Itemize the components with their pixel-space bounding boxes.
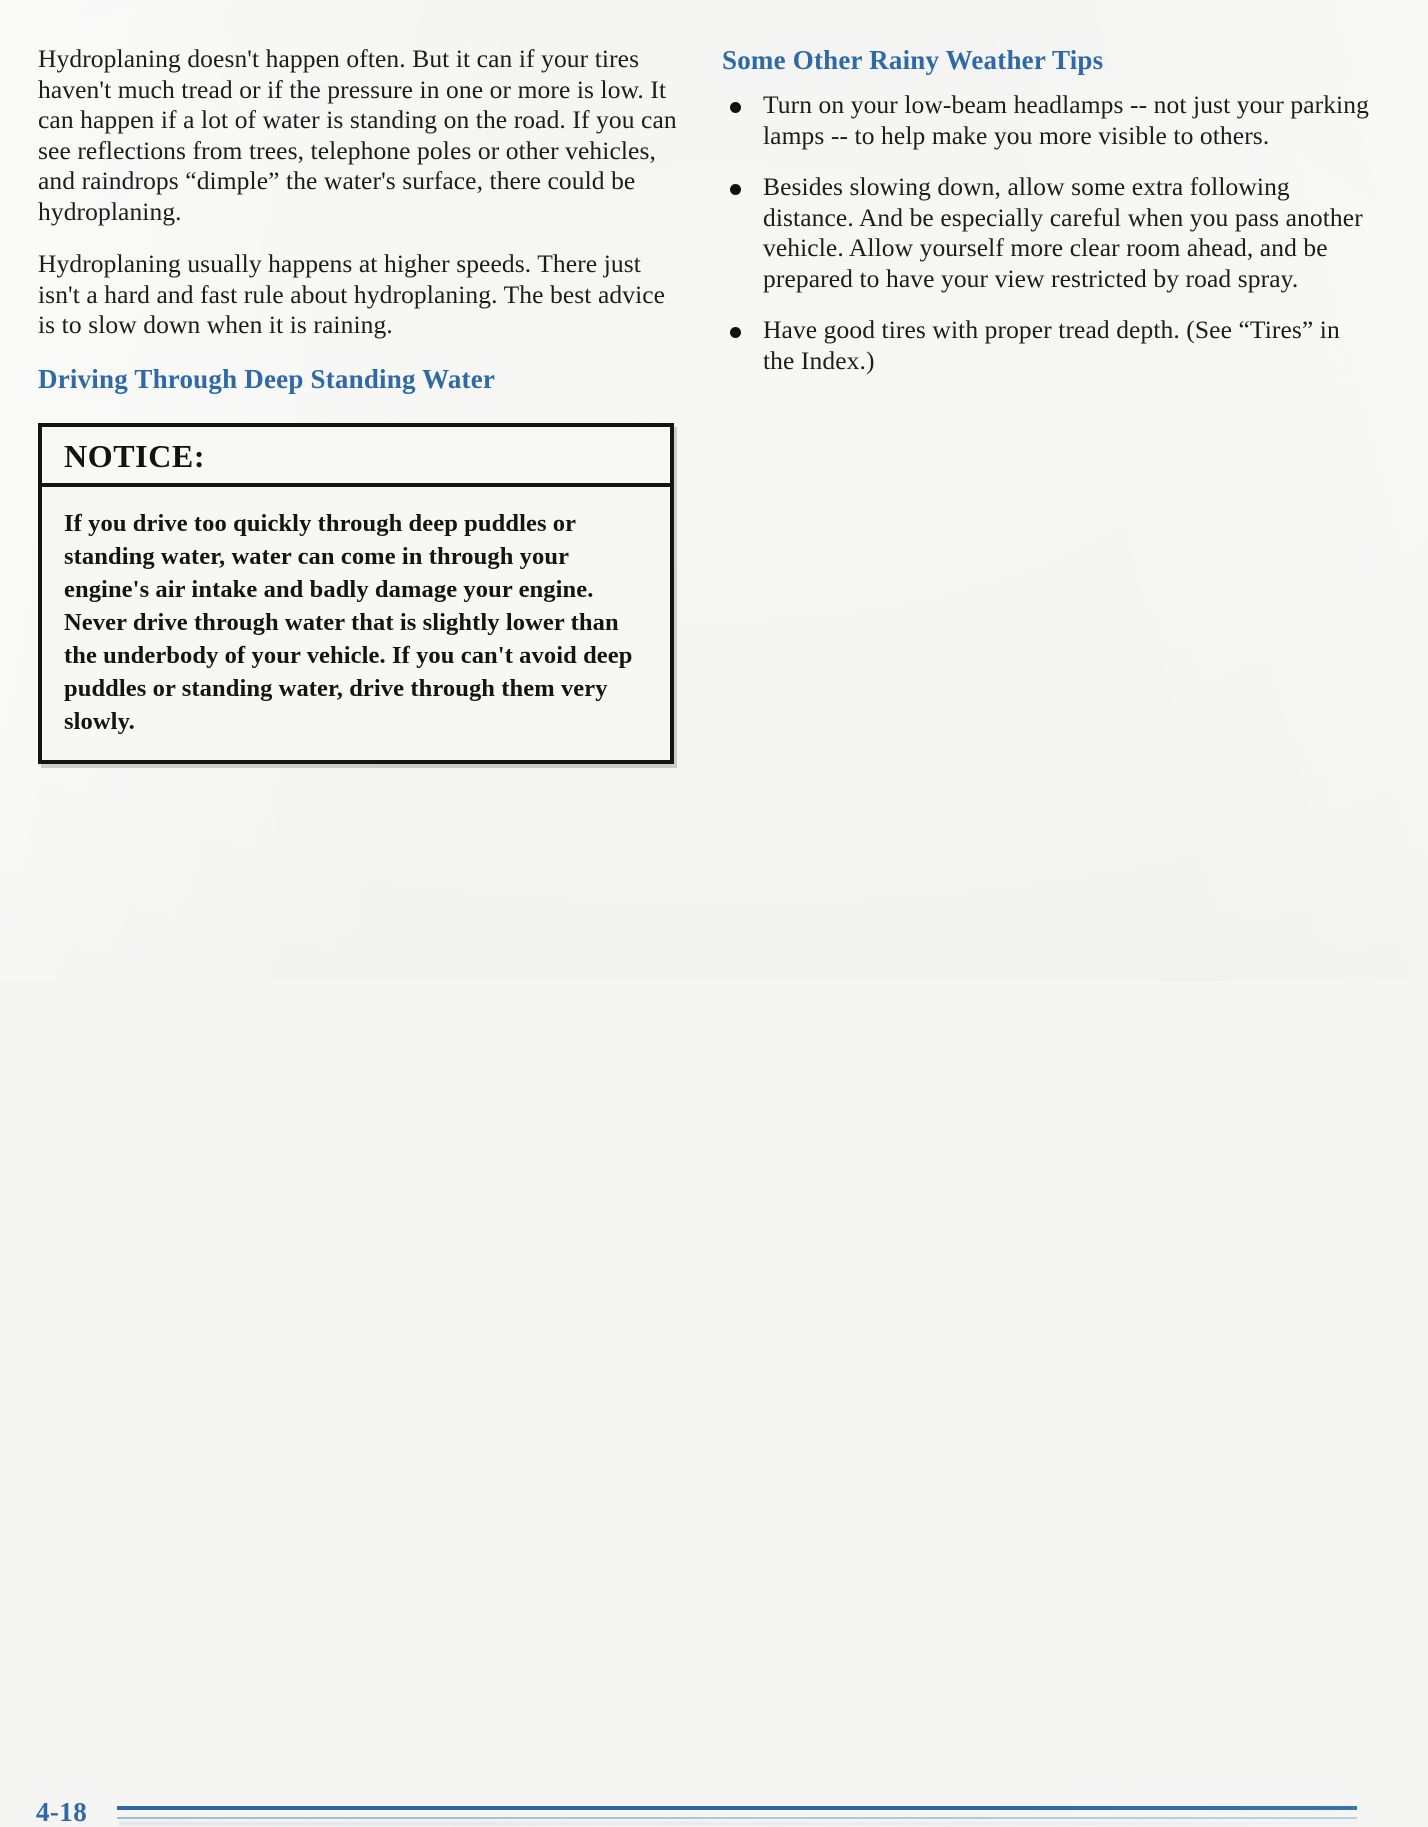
bullet-dot-icon xyxy=(730,327,741,338)
page-columns: Hydroplaning doesn't happen often. But i… xyxy=(0,0,1428,981)
page-footer: 4-18 xyxy=(0,889,1428,981)
notice-body-text: If you drive too quickly through deep pu… xyxy=(64,507,648,738)
notice-body: If you drive too quickly through deep pu… xyxy=(42,487,670,760)
paragraph-hydroplaning-speeds: Hydroplaning usually happens at higher s… xyxy=(38,249,684,341)
heading-some-other-rainy-weather-tips: Some Other Rainy Weather Tips xyxy=(722,44,1370,76)
list-item: Besides slowing down, allow some extra f… xyxy=(722,172,1370,294)
list-item: Have good tires with proper tread depth.… xyxy=(722,315,1370,376)
paragraph-hydroplaning-intro: Hydroplaning doesn't happen often. But i… xyxy=(38,44,684,227)
list-item-text: Have good tires with proper tread depth.… xyxy=(763,315,1340,375)
footer-rule-bottom xyxy=(117,1817,1357,1819)
list-item: Turn on your low-beam headlamps -- not j… xyxy=(722,90,1370,151)
heading-driving-through-deep-standing-water: Driving Through Deep Standing Water xyxy=(38,363,684,395)
list-item-text: Besides slowing down, allow some extra f… xyxy=(763,172,1363,293)
left-column: Hydroplaning doesn't happen often. But i… xyxy=(38,44,684,395)
footer-rule-shadow xyxy=(119,1822,1357,1825)
list-item-text: Turn on your low-beam headlamps -- not j… xyxy=(763,90,1369,150)
bullet-dot-icon xyxy=(730,102,741,113)
rainy-weather-tips-list: Turn on your low-beam headlamps -- not j… xyxy=(722,90,1370,376)
notice-title: NOTICE: xyxy=(64,438,205,474)
footer-rule-top xyxy=(117,1806,1357,1810)
notice-header: NOTICE: xyxy=(42,427,670,487)
page-number: 4-18 xyxy=(36,1799,87,1826)
notice-box: NOTICE: If you drive too quickly through… xyxy=(38,423,674,764)
bullet-dot-icon xyxy=(730,184,741,195)
right-column: Some Other Rainy Weather Tips Turn on yo… xyxy=(722,44,1370,397)
